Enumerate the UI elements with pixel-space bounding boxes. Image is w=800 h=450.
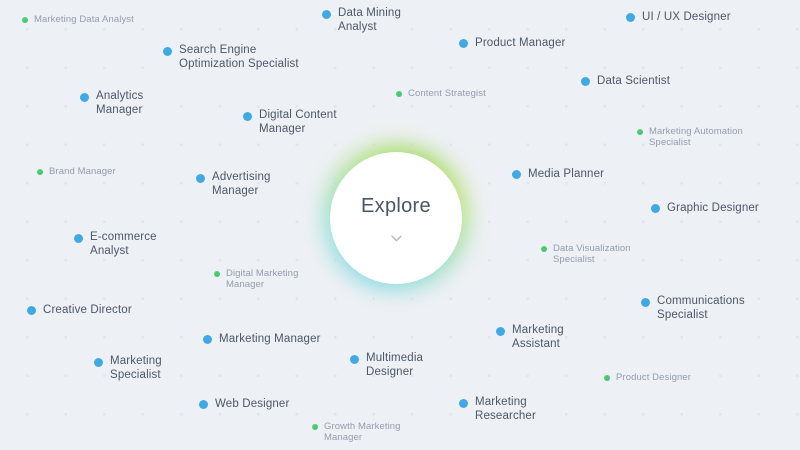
node-label: Brand Manager	[49, 166, 116, 177]
node-label: Marketing Data Analyst	[34, 14, 134, 25]
node-dot-blue-icon	[459, 399, 468, 408]
node-graphic-designer[interactable]: Graphic Designer	[651, 202, 759, 216]
node-dot-blue-icon	[641, 298, 650, 307]
node-label: Analytics Manager	[96, 90, 143, 117]
node-search-engine-optimization-specialist[interactable]: Search Engine Optimization Specialist	[163, 44, 299, 71]
node-dot-green-icon	[541, 246, 547, 252]
node-dot-green-icon	[214, 271, 220, 277]
node-dot-blue-icon	[94, 358, 103, 367]
node-digital-content-manager[interactable]: Digital Content Manager	[243, 109, 337, 136]
node-data-visualization-specialist[interactable]: Data Visualization Specialist	[541, 243, 631, 265]
node-web-designer[interactable]: Web Designer	[199, 398, 289, 412]
node-brand-manager[interactable]: Brand Manager	[37, 166, 116, 177]
node-e-commerce-analyst[interactable]: E-commerce Analyst	[74, 231, 157, 258]
node-dot-blue-icon	[203, 335, 212, 344]
node-dot-green-icon	[604, 375, 610, 381]
node-data-mining-analyst[interactable]: Data Mining Analyst	[322, 7, 401, 34]
node-dot-blue-icon	[74, 234, 83, 243]
node-dot-blue-icon	[512, 170, 521, 179]
node-analytics-manager[interactable]: Analytics Manager	[80, 90, 143, 117]
node-label: Data Visualization Specialist	[553, 243, 631, 265]
node-label: Marketing Assistant	[512, 324, 564, 351]
explore-button[interactable]: Explore	[330, 152, 462, 284]
node-label: Marketing Researcher	[475, 396, 536, 423]
node-dot-blue-icon	[459, 39, 468, 48]
node-label: Marketing Specialist	[110, 355, 162, 382]
node-label: Advertising Manager	[212, 171, 271, 198]
node-marketing-manager[interactable]: Marketing Manager	[203, 333, 321, 347]
chevron-down-icon[interactable]	[391, 235, 402, 242]
node-content-strategist[interactable]: Content Strategist	[396, 88, 486, 99]
node-dot-blue-icon	[199, 400, 208, 409]
node-marketing-assistant[interactable]: Marketing Assistant	[496, 324, 564, 351]
node-dot-blue-icon	[651, 204, 660, 213]
node-label: Communications Specialist	[657, 295, 745, 322]
node-dot-blue-icon	[322, 10, 331, 19]
node-dot-green-icon	[396, 91, 402, 97]
node-dot-green-icon	[637, 129, 643, 135]
node-dot-blue-icon	[80, 93, 89, 102]
node-creative-director[interactable]: Creative Director	[27, 304, 132, 318]
node-product-manager[interactable]: Product Manager	[459, 37, 565, 51]
node-label: Search Engine Optimization Specialist	[179, 44, 299, 71]
node-map-canvas: Marketing Data AnalystData Mining Analys…	[0, 0, 800, 450]
node-dot-blue-icon	[243, 112, 252, 121]
node-dot-blue-icon	[350, 355, 359, 364]
node-dot-green-icon	[37, 169, 43, 175]
node-dot-blue-icon	[581, 77, 590, 86]
node-marketing-data-analyst[interactable]: Marketing Data Analyst	[22, 14, 134, 25]
node-label: Data Mining Analyst	[338, 7, 401, 34]
node-data-scientist[interactable]: Data Scientist	[581, 75, 670, 89]
node-ui-ux-designer[interactable]: UI / UX Designer	[626, 11, 731, 25]
node-product-designer[interactable]: Product Designer	[604, 372, 691, 383]
node-label: Growth Marketing Manager	[324, 421, 401, 443]
node-digital-marketing-manager[interactable]: Digital Marketing Manager	[214, 268, 298, 290]
node-dot-blue-icon	[196, 174, 205, 183]
node-label: Creative Director	[43, 304, 132, 318]
node-marketing-automation-specialist[interactable]: Marketing Automation Specialist	[637, 126, 743, 148]
node-label: Content Strategist	[408, 88, 486, 99]
node-label: Product Designer	[616, 372, 691, 383]
explore-label: Explore	[361, 195, 431, 218]
node-label: E-commerce Analyst	[90, 231, 157, 258]
node-label: Marketing Manager	[219, 333, 321, 347]
node-media-planner[interactable]: Media Planner	[512, 168, 604, 182]
node-label: Web Designer	[215, 398, 289, 412]
node-label: Product Manager	[475, 37, 565, 51]
node-label: Digital Marketing Manager	[226, 268, 298, 290]
node-dot-blue-icon	[27, 306, 36, 315]
node-dot-green-icon	[22, 17, 28, 23]
node-growth-marketing-manager[interactable]: Growth Marketing Manager	[312, 421, 401, 443]
node-label: Marketing Automation Specialist	[649, 126, 743, 148]
node-label: Digital Content Manager	[259, 109, 337, 136]
node-label: Graphic Designer	[667, 202, 759, 216]
node-label: Multimedia Designer	[366, 352, 423, 379]
explore-button-wrapper: Explore	[330, 152, 462, 284]
node-advertising-manager[interactable]: Advertising Manager	[196, 171, 271, 198]
node-dot-blue-icon	[496, 327, 505, 336]
node-dot-green-icon	[312, 424, 318, 430]
node-dot-blue-icon	[626, 13, 635, 22]
node-marketing-researcher[interactable]: Marketing Researcher	[459, 396, 536, 423]
node-label: UI / UX Designer	[642, 11, 731, 25]
node-dot-blue-icon	[163, 47, 172, 56]
node-label: Media Planner	[528, 168, 604, 182]
node-label: Data Scientist	[597, 75, 670, 89]
node-multimedia-designer[interactable]: Multimedia Designer	[350, 352, 423, 379]
node-marketing-specialist[interactable]: Marketing Specialist	[94, 355, 162, 382]
node-communications-specialist[interactable]: Communications Specialist	[641, 295, 745, 322]
